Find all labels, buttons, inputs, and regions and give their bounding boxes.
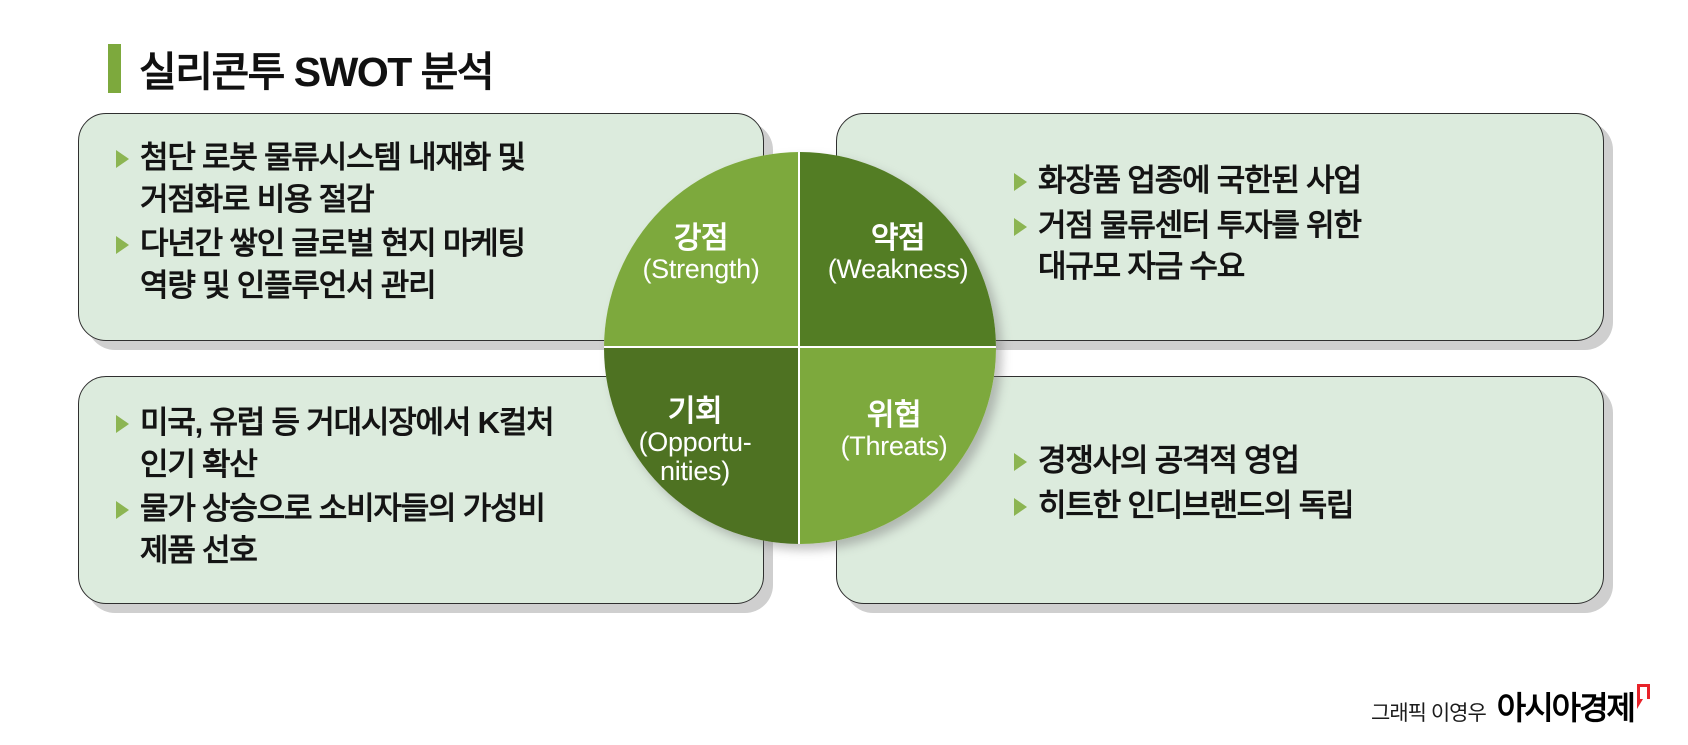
title-label: 실리콘투 SWOT 분석	[139, 38, 493, 98]
bullet-label: 히트한 인디브랜드의 독립	[1038, 485, 1353, 527]
quadrant-opportunity: 기회 (Opportu- nities)	[604, 348, 800, 544]
list-item: 화장품 업종에 국한된 사업	[1014, 160, 1574, 202]
footer-credit: 그래픽 이영우 아시아경제	[1371, 683, 1650, 729]
bullet-label: 물가 상승으로 소비자들의 가성비 제품 선호	[140, 488, 545, 571]
triangle-bullet-icon	[1014, 453, 1027, 471]
bullet-label: 다년간 쌓인 글로벌 현지 마케팅 역량 및 인플루언서 관리	[140, 223, 525, 306]
triangle-bullet-icon	[1014, 498, 1027, 516]
brand-quote-mark-icon	[1637, 684, 1650, 699]
bullet-label: 첨단 로봇 물류시스템 내재화 및 거점화로 비용 절감	[140, 137, 525, 220]
quadrant-label-en: (Opportu- nities)	[639, 428, 752, 485]
triangle-bullet-icon	[1014, 173, 1027, 191]
quadrant-label-ko: 위협	[841, 399, 948, 433]
list-item: 히트한 인디브랜드의 독립	[1014, 485, 1574, 527]
brand-logo: 아시아경제	[1497, 683, 1650, 729]
quadrant-weakness: 약점 (Weakness)	[800, 152, 996, 348]
quadrant-label-en: (Weakness)	[828, 255, 969, 284]
bullet-list-weakness: 화장품 업종에 국한된 사업 거점 물류센터 투자를 위한 대규모 자금 수요	[1014, 160, 1574, 291]
bullet-label: 미국, 유럽 등 거대시장에서 K컬처 인기 확산	[140, 402, 553, 485]
page-title: 실리콘투 SWOT 분석	[108, 38, 493, 98]
triangle-bullet-icon	[116, 501, 129, 519]
quadrant-label-en: (Strength)	[642, 255, 759, 284]
triangle-bullet-icon	[1014, 218, 1027, 236]
list-item: 미국, 유럽 등 거대시장에서 K컬처 인기 확산	[116, 402, 676, 485]
bullet-label: 거점 물류센터 투자를 위한 대규모 자금 수요	[1038, 205, 1361, 288]
quadrant-label-ko: 기회	[639, 395, 752, 429]
bullet-label: 화장품 업종에 국한된 사업	[1038, 160, 1361, 202]
bullet-list-opportunity: 미국, 유럽 등 거대시장에서 K컬처 인기 확산 물가 상승으로 소비자들의 …	[116, 402, 676, 574]
quadrant-strength: 강점 (Strength)	[604, 152, 800, 348]
swot-circle-diagram: 강점 (Strength) 약점 (Weakness) 기회 (Opportu-…	[604, 152, 996, 544]
quadrant-label-ko: 강점	[642, 222, 759, 256]
list-item: 거점 물류센터 투자를 위한 대규모 자금 수요	[1014, 205, 1574, 288]
graphic-credit-label: 그래픽 이영우	[1371, 697, 1486, 729]
bullet-list-threat: 경쟁사의 공격적 영업 히트한 인디브랜드의 독립	[1014, 440, 1574, 529]
triangle-bullet-icon	[116, 150, 129, 168]
triangle-bullet-icon	[116, 415, 129, 433]
list-item: 물가 상승으로 소비자들의 가성비 제품 선호	[116, 488, 676, 571]
bullet-label: 경쟁사의 공격적 영업	[1038, 440, 1299, 482]
list-item: 첨단 로봇 물류시스템 내재화 및 거점화로 비용 절감	[116, 137, 676, 220]
quadrant-label-ko: 약점	[828, 222, 969, 256]
triangle-bullet-icon	[116, 236, 129, 254]
list-item: 경쟁사의 공격적 영업	[1014, 440, 1574, 482]
bullet-list-strength: 첨단 로봇 물류시스템 내재화 및 거점화로 비용 절감 다년간 쌓인 글로벌 …	[116, 137, 676, 309]
quadrant-label-en: (Threats)	[841, 432, 948, 461]
title-accent-bar	[108, 44, 121, 93]
list-item: 다년간 쌓인 글로벌 현지 마케팅 역량 및 인플루언서 관리	[116, 223, 676, 306]
brand-name-label: 아시아경제	[1497, 683, 1634, 729]
quadrant-threat: 위협 (Threats)	[800, 348, 996, 544]
